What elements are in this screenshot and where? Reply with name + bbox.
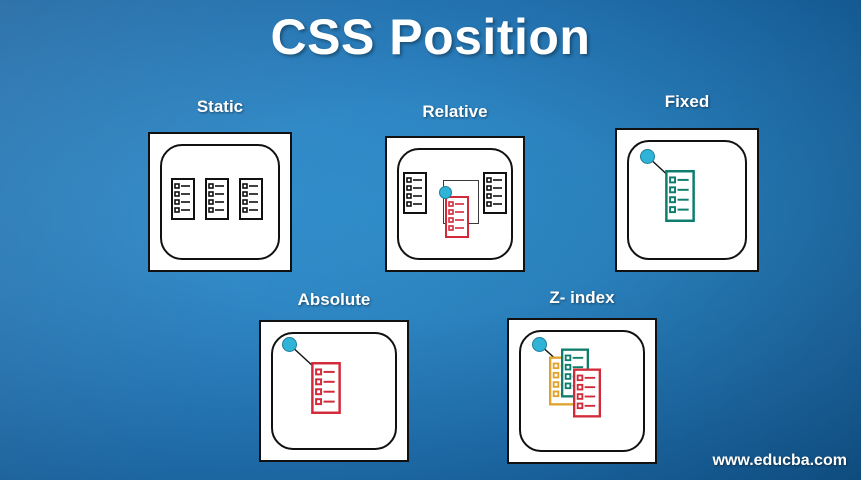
- card-fixed: [615, 128, 759, 272]
- card-absolute: [259, 320, 409, 462]
- poster-root: CSS Position Static Relat: [0, 0, 861, 480]
- watermark: www.educba.com: [712, 452, 847, 470]
- anchor-dot: [640, 149, 655, 164]
- card-label-fixed: Fixed: [615, 92, 759, 112]
- document-icon: [171, 178, 195, 220]
- document-icon-accent: [445, 196, 469, 238]
- document-icon-layer-3: [573, 368, 601, 418]
- document-icon: [403, 172, 427, 214]
- document-icon: [311, 362, 341, 414]
- card-zindex: [507, 318, 657, 464]
- anchor-dot: [532, 337, 547, 352]
- document-icon: [205, 178, 229, 220]
- document-icon: [665, 170, 695, 222]
- anchor-dot: [282, 337, 297, 352]
- card-static: [148, 132, 292, 272]
- page-title: CSS Position: [0, 8, 861, 66]
- card-label-relative: Relative: [385, 102, 525, 122]
- card-relative: [385, 136, 525, 272]
- document-icon: [239, 178, 263, 220]
- card-label-absolute: Absolute: [259, 290, 409, 310]
- card-label-zindex: Z- index: [507, 288, 657, 308]
- document-icon: [483, 172, 507, 214]
- card-label-static: Static: [148, 97, 292, 117]
- anchor-dot: [439, 186, 452, 199]
